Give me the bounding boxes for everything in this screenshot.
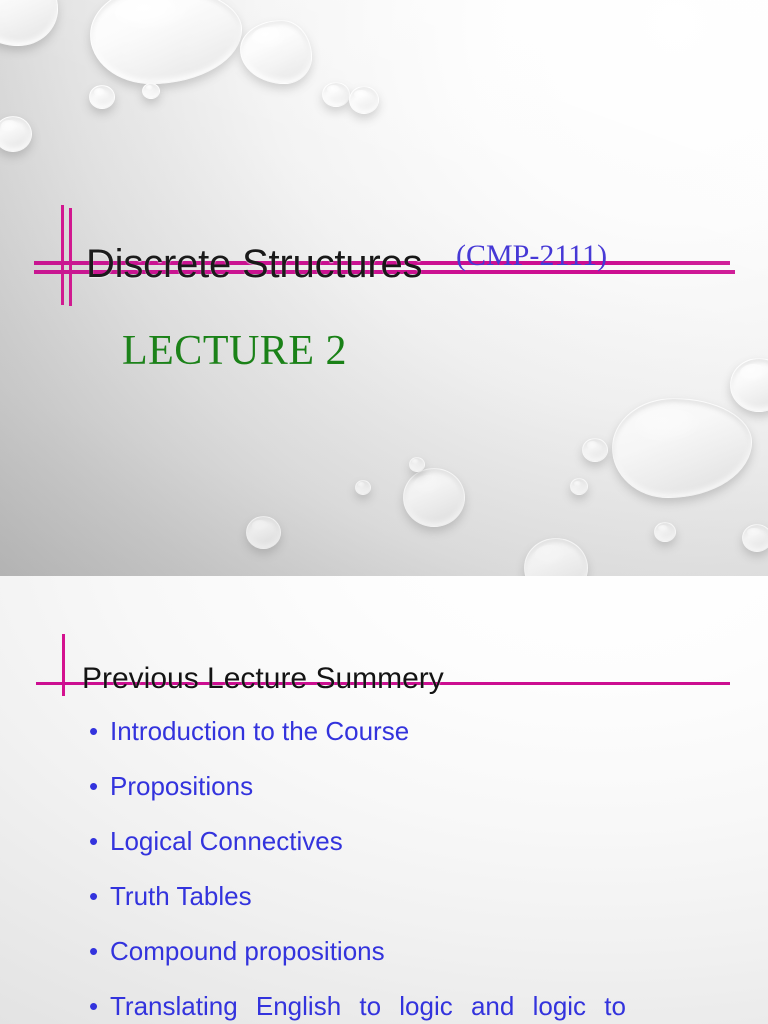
bullet-marker-icon: •: [89, 993, 98, 1020]
title-slide: Discrete Structures (CMP-2111) LECTURE 2: [0, 0, 768, 576]
list-item: • Logical Connectives: [86, 828, 686, 855]
list-item-label: Truth Tables: [110, 881, 252, 911]
water-droplet-bubble: [524, 538, 588, 576]
water-droplet-bubble: [742, 524, 768, 552]
title-accent-vertical-rule-outer: [61, 205, 64, 305]
slide-deck-page: Discrete Structures (CMP-2111) LECTURE 2…: [0, 0, 768, 1024]
water-droplet-bubble: [0, 116, 32, 152]
water-droplet-bubble: [89, 85, 115, 109]
water-droplet-bubble: [730, 358, 768, 412]
water-droplet-bubble: [322, 82, 350, 107]
lecture-number-label: LECTURE 2: [122, 330, 347, 372]
bullet-marker-icon: •: [89, 938, 98, 965]
water-droplet-bubble: [570, 478, 588, 495]
list-item-label: Propositions: [110, 771, 253, 801]
water-droplet-bubble: [582, 438, 608, 462]
water-droplet-bubble: [355, 480, 371, 495]
water-droplet-bubble: [240, 20, 312, 84]
water-droplet-bubble: [90, 0, 242, 84]
list-item: • Propositions: [86, 773, 686, 800]
bullet-marker-icon: •: [89, 828, 98, 855]
list-item-label: Logical Connectives: [110, 826, 343, 856]
list-item: • Translating English to logic and logic…: [86, 993, 700, 1020]
water-droplet-bubble: [349, 86, 379, 114]
bullet-marker-icon: •: [89, 883, 98, 910]
list-item: • Introduction to the Course: [86, 718, 686, 745]
water-droplet-bubble: [409, 457, 425, 472]
section-heading: Previous Lecture Summery: [82, 664, 444, 694]
list-item: • Truth Tables: [86, 883, 686, 910]
content-accent-vertical-rule: [62, 634, 65, 696]
title-accent-vertical-rule-inner: [69, 208, 72, 306]
water-droplet-bubble: [403, 468, 465, 527]
water-droplet-bubble: [654, 522, 676, 542]
bullet-marker-icon: •: [89, 773, 98, 800]
course-code-label: (CMP-2111): [456, 241, 607, 271]
water-droplet-bubble: [246, 516, 281, 549]
list-item-label: Compound propositions: [110, 936, 385, 966]
list-item-label: Translating English to logic and logic t…: [110, 991, 626, 1021]
water-droplet-bubble: [142, 83, 160, 99]
page-title: Discrete Structures: [86, 244, 422, 284]
water-droplet-bubble: [0, 0, 58, 46]
list-item-label: Introduction to the Course: [110, 716, 409, 746]
bullet-marker-icon: •: [89, 718, 98, 745]
water-droplet-bubble: [612, 398, 752, 498]
summary-bullet-list: • Introduction to the Course • Propositi…: [86, 718, 686, 1024]
list-item: • Compound propositions: [86, 938, 686, 965]
